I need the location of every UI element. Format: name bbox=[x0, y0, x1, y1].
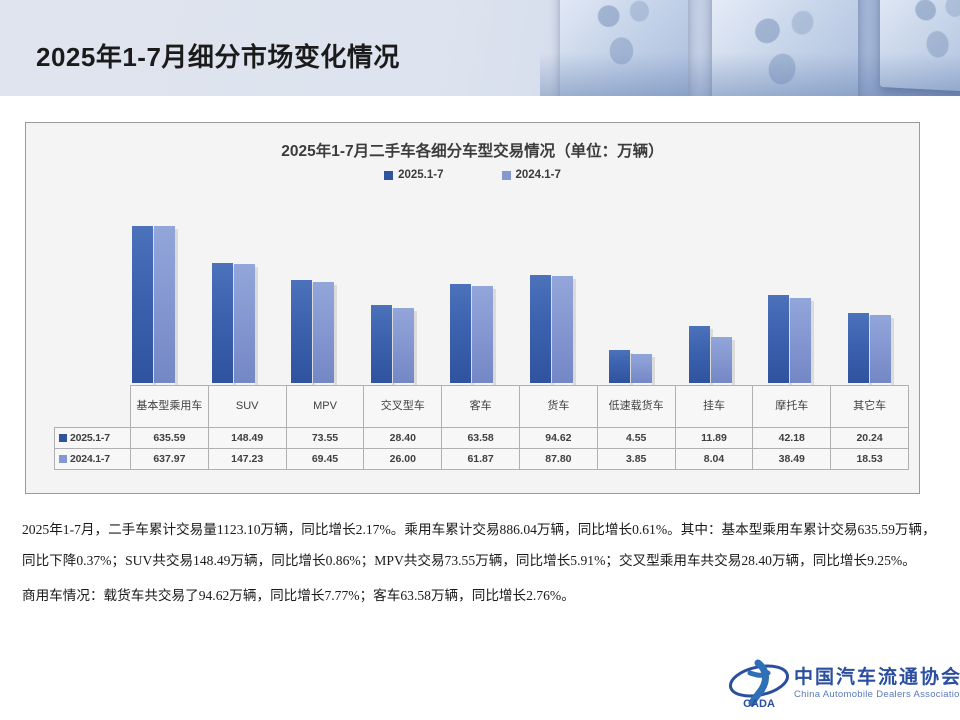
bar-group bbox=[750, 201, 830, 383]
logo-name-en: China Automobile Dealers Association bbox=[794, 689, 960, 700]
table-cell: 61.87 bbox=[442, 449, 520, 470]
bar-2025.1-7-低速载货车[interactable] bbox=[609, 350, 630, 383]
series-swatch-icon bbox=[59, 434, 67, 442]
bar-2025.1-7-MPV[interactable] bbox=[291, 280, 312, 383]
series-swatch-icon bbox=[59, 455, 67, 463]
table-cell: 3.85 bbox=[597, 449, 675, 470]
table-corner-cell bbox=[55, 386, 131, 428]
table-cell: 42.18 bbox=[753, 428, 831, 449]
bar-2024.1-7-挂车[interactable] bbox=[711, 337, 732, 383]
table-col-header: SUV bbox=[208, 386, 286, 428]
table-cell: 26.00 bbox=[364, 449, 442, 470]
table-cell: 28.40 bbox=[364, 428, 442, 449]
table-cell: 20.24 bbox=[831, 428, 909, 449]
table-cell: 63.58 bbox=[442, 428, 520, 449]
table-col-header: MPV bbox=[286, 386, 364, 428]
page-title: 2025年1-7月细分市场变化情况 bbox=[36, 37, 400, 74]
chart-legend: 2025.1-72024.1-7 bbox=[26, 169, 919, 181]
bar-group bbox=[591, 201, 671, 383]
bar-2025.1-7-挂车[interactable] bbox=[689, 326, 710, 383]
bar-2025.1-7-货车[interactable] bbox=[530, 275, 551, 383]
table-cell: 73.55 bbox=[286, 428, 364, 449]
legend-label: 2024.1-7 bbox=[516, 169, 561, 181]
bar-2024.1-7-交叉型车[interactable] bbox=[393, 308, 414, 383]
bar-2024.1-7-SUV[interactable] bbox=[234, 264, 255, 383]
bar-2024.1-7-货车[interactable] bbox=[552, 276, 573, 383]
table-col-header: 基本型乘用车 bbox=[131, 386, 209, 428]
table-cell: 18.53 bbox=[831, 449, 909, 470]
table-col-header: 挂车 bbox=[675, 386, 753, 428]
table-row: 2025.1-7635.59148.4973.5528.4063.5894.62… bbox=[55, 428, 909, 449]
logo-name-cn: 中国汽车流通协会 bbox=[794, 668, 960, 688]
chart-data-table: 基本型乘用车SUVMPV交叉型车客车货车低速载货车挂车摩托车其它车 2025.1… bbox=[54, 385, 909, 470]
legend-item-2[interactable]: 2024.1-7 bbox=[502, 169, 561, 181]
table-cell: 11.89 bbox=[675, 428, 753, 449]
table-col-header: 交叉型车 bbox=[364, 386, 442, 428]
bar-2024.1-7-其它车[interactable] bbox=[870, 315, 891, 383]
table-cell: 635.59 bbox=[131, 428, 209, 449]
table-cell: 69.45 bbox=[286, 449, 364, 470]
bar-group bbox=[830, 201, 910, 383]
bar-2025.1-7-摩托车[interactable] bbox=[768, 295, 789, 383]
report-paragraph-1: 2025年1-7月，二手车累计交易量1123.10万辆，同比增长2.17%。乘用… bbox=[22, 514, 942, 576]
bar-2024.1-7-MPV[interactable] bbox=[313, 282, 334, 383]
bar-group bbox=[512, 201, 592, 383]
chart-title: 2025年1-7月二手车各细分车型交易情况（单位：万辆） bbox=[26, 139, 919, 161]
table-row-header: 2024.1-7 bbox=[55, 449, 131, 470]
table-col-header: 低速载货车 bbox=[597, 386, 675, 428]
table-cell: 148.49 bbox=[208, 428, 286, 449]
bar-group bbox=[273, 201, 353, 383]
legend-label: 2025.1-7 bbox=[398, 169, 443, 181]
legend-item-1[interactable]: 2025.1-7 bbox=[384, 169, 443, 181]
cada-mark-text: CADA bbox=[743, 698, 775, 709]
table-cell: 94.62 bbox=[519, 428, 597, 449]
report-paragraph-2: 商用车情况：载货车共交易了94.62万辆，同比增长7.77%；客车63.58万辆… bbox=[22, 580, 942, 611]
organization-logo: CADA 中国汽车流通协会 China Automobile Dealers A… bbox=[728, 656, 944, 712]
report-body: 2025年1-7月，二手车累计交易量1123.10万辆，同比增长2.17%。乘用… bbox=[22, 514, 942, 615]
chart-panel: 2025年1-7月二手车各细分车型交易情况（单位：万辆） 2025.1-7202… bbox=[25, 122, 920, 494]
table-col-header: 其它车 bbox=[831, 386, 909, 428]
bar-2025.1-7-基本型乘用车[interactable] bbox=[132, 226, 153, 383]
table-cell: 8.04 bbox=[675, 449, 753, 470]
chart-plot-area bbox=[114, 201, 909, 383]
world-map-cubes-icon bbox=[540, 0, 960, 96]
bar-group bbox=[353, 201, 433, 383]
legend-swatch-icon bbox=[502, 171, 511, 180]
bar-2025.1-7-SUV[interactable] bbox=[212, 263, 233, 383]
bar-2025.1-7-交叉型车[interactable] bbox=[371, 305, 392, 383]
bar-group bbox=[114, 201, 194, 383]
table-cell: 38.49 bbox=[753, 449, 831, 470]
bar-2024.1-7-低速载货车[interactable] bbox=[631, 354, 652, 383]
table-row-header: 2025.1-7 bbox=[55, 428, 131, 449]
table-cell: 147.23 bbox=[208, 449, 286, 470]
bar-group bbox=[671, 201, 751, 383]
bar-2024.1-7-基本型乘用车[interactable] bbox=[154, 226, 175, 383]
table-col-header: 客车 bbox=[442, 386, 520, 428]
table-cell: 87.80 bbox=[519, 449, 597, 470]
table-cell: 637.97 bbox=[131, 449, 209, 470]
cada-emblem-icon: CADA bbox=[728, 659, 790, 709]
table-col-header: 货车 bbox=[519, 386, 597, 428]
bar-group bbox=[432, 201, 512, 383]
bar-group bbox=[194, 201, 274, 383]
legend-swatch-icon bbox=[384, 171, 393, 180]
bar-2024.1-7-客车[interactable] bbox=[472, 286, 493, 383]
table-row: 2024.1-7637.97147.2369.4526.0061.8787.80… bbox=[55, 449, 909, 470]
table-col-header: 摩托车 bbox=[753, 386, 831, 428]
bar-2025.1-7-客车[interactable] bbox=[450, 284, 471, 383]
table-cell: 4.55 bbox=[597, 428, 675, 449]
bar-2024.1-7-摩托车[interactable] bbox=[790, 298, 811, 383]
bar-2025.1-7-其它车[interactable] bbox=[848, 313, 869, 383]
